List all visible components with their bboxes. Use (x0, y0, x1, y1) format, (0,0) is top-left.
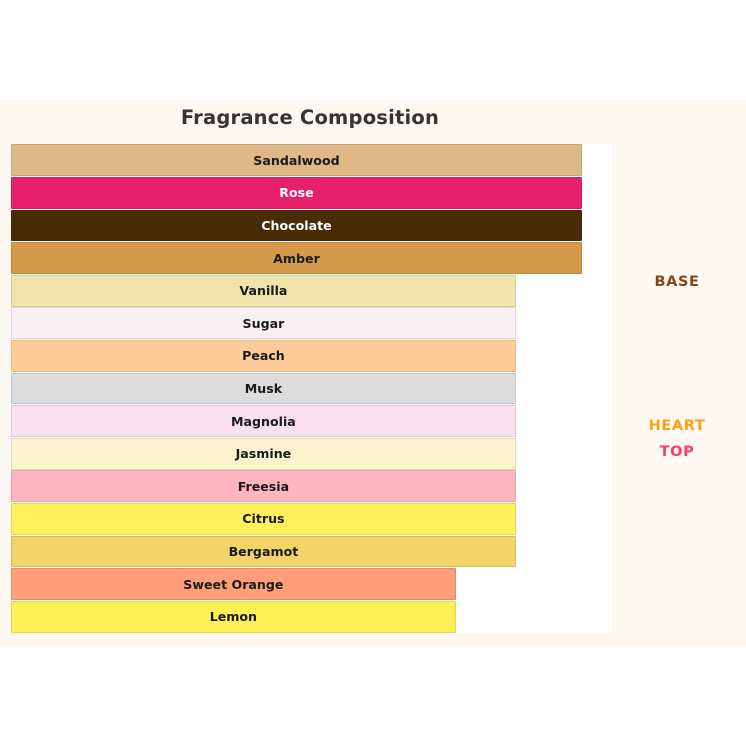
plot-area: SandalwoodRoseChocolateAmberVanillaSugar… (11, 144, 612, 633)
bar-sandalwood[interactable] (11, 144, 582, 176)
bar-row: Chocolate (11, 210, 612, 242)
bar-magnolia[interactable] (11, 405, 516, 437)
bar-chocolate[interactable] (11, 210, 582, 242)
bar-freesia[interactable] (11, 470, 516, 502)
bar-row: Magnolia (11, 405, 612, 437)
bar-row: Vanilla (11, 275, 612, 307)
bar-sugar[interactable] (11, 307, 516, 339)
bar-citrus[interactable] (11, 503, 516, 535)
bar-musk[interactable] (11, 373, 516, 405)
bar-row: Peach (11, 340, 612, 372)
bar-row: Jasmine (11, 438, 612, 470)
bar-amber[interactable] (11, 242, 582, 274)
bar-row: Musk (11, 373, 612, 405)
group-annotation-base: BASE (654, 274, 699, 290)
bar-vanilla[interactable] (11, 275, 516, 307)
bar-row: Bergamot (11, 536, 612, 568)
bar-lemon[interactable] (11, 601, 456, 633)
bar-jasmine[interactable] (11, 438, 516, 470)
bar-row: Amber (11, 242, 612, 274)
bar-row: Freesia (11, 470, 612, 502)
bar-bergamot[interactable] (11, 536, 516, 568)
bar-sweet-orange[interactable] (11, 568, 456, 600)
bar-row: Citrus (11, 503, 612, 535)
bar-rose[interactable] (11, 177, 582, 209)
bar-peach[interactable] (11, 340, 516, 372)
bar-row: Sugar (11, 307, 612, 339)
group-annotation-top: TOP (660, 444, 695, 460)
bar-row: Lemon (11, 601, 612, 633)
group-annotation-heart: HEART (649, 418, 706, 434)
chart-figure: Fragrance Composition SandalwoodRoseChoc… (0, 100, 746, 646)
bar-row: Rose (11, 177, 612, 209)
page-title: Fragrance Composition (0, 106, 620, 129)
bar-row: Sandalwood (11, 144, 612, 176)
bar-row: Sweet Orange (11, 568, 612, 600)
